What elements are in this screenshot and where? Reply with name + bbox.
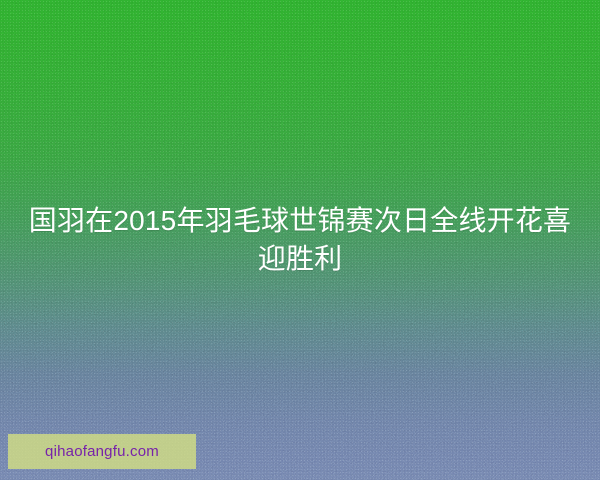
watermark-plate: qihaofangfu.com [8, 434, 196, 469]
banner-image: 国羽在2015年羽毛球世锦赛次日全线开花喜迎胜利 qihaofangfu.com [0, 0, 600, 480]
page-title: 国羽在2015年羽毛球世锦赛次日全线开花喜迎胜利 [0, 202, 600, 278]
watermark-text: qihaofangfu.com [45, 444, 159, 459]
